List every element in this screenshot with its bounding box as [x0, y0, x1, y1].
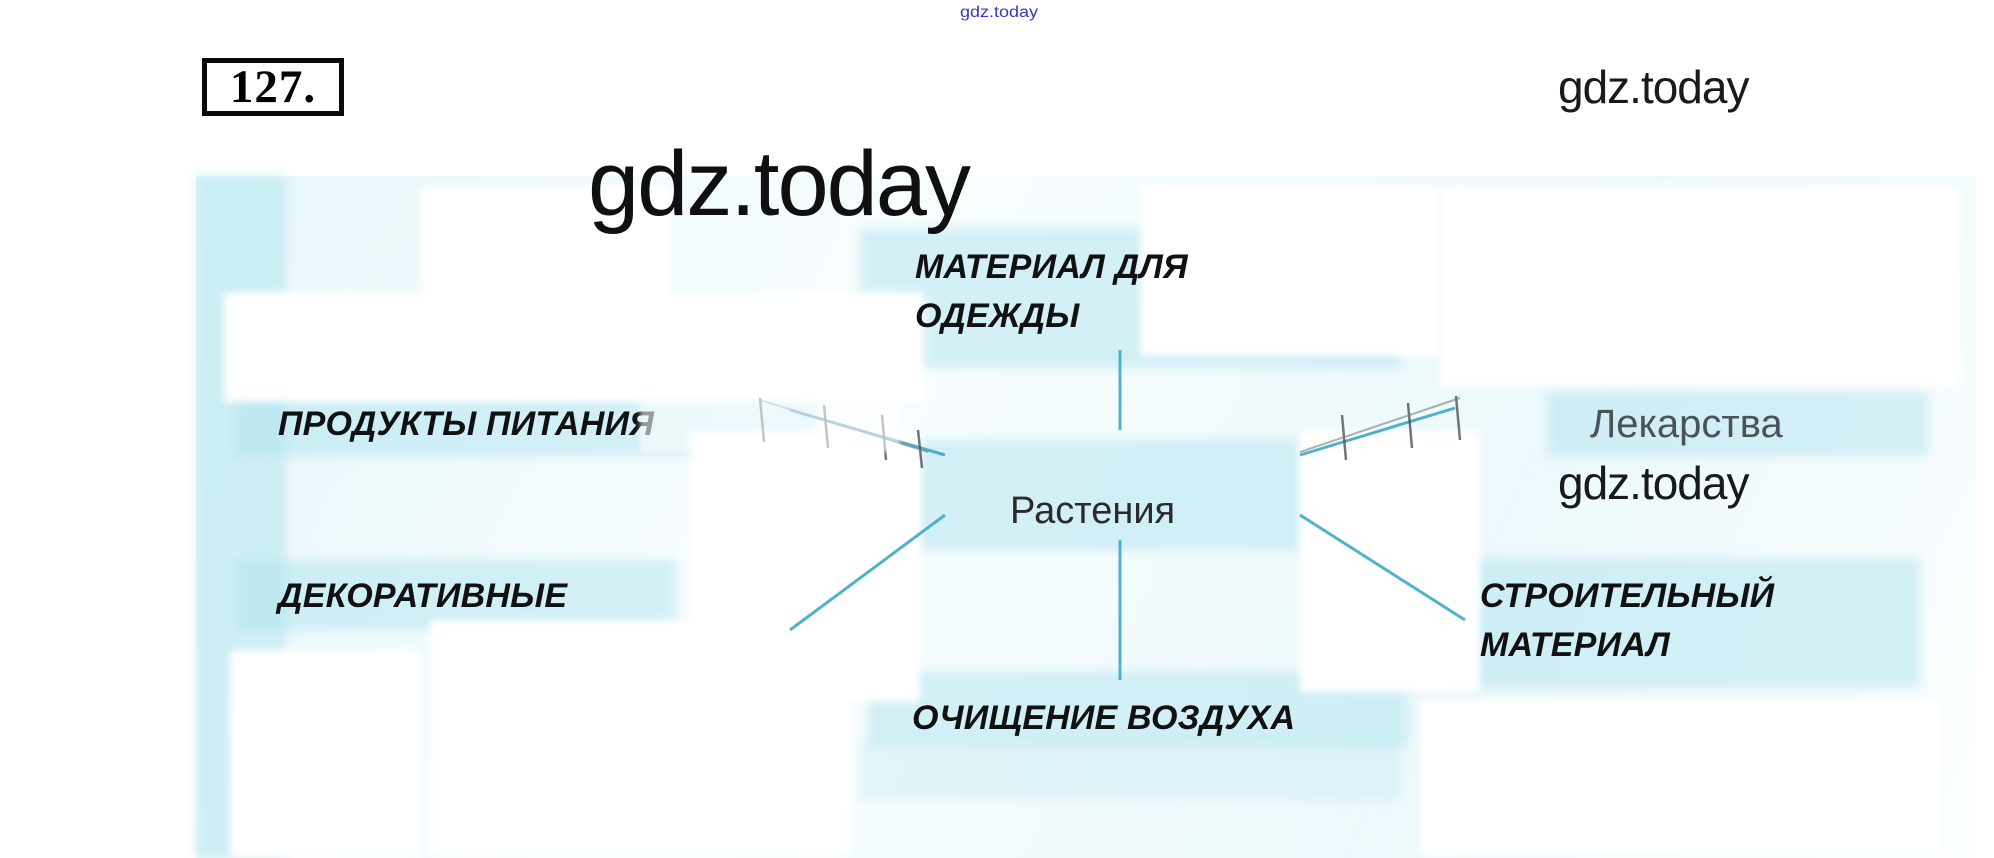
node-label-building: СТРОИТЕЛЬНЫЙ МАТЕРИАЛ: [1480, 572, 1774, 671]
node-label-building-line2: МАТЕРИАЛ: [1480, 621, 1774, 670]
task-number-box: 127.: [202, 58, 344, 116]
scan-white-patch: [1440, 186, 1960, 386]
scan-white-patch: [420, 186, 670, 386]
scan-white-patch: [230, 650, 420, 858]
scan-white-patch: [1300, 432, 1480, 692]
node-label-food: ПРОДУКТЫ ПИТАНИЯ: [278, 400, 654, 449]
node-label-air: ОЧИЩЕНИЕ ВОЗДУХА: [912, 694, 1295, 743]
node-label-medicine: Лекарства: [1590, 402, 1783, 447]
scan-fade-overlay: [640, 382, 900, 452]
node-label-decor: ДЕКОРАТИВНЫЕ: [278, 572, 567, 621]
watermark-top-right: gdz.today: [1558, 60, 1748, 114]
scan-tint-blotch: [860, 740, 1400, 800]
node-label-clothing-line2: ОДЕЖДЫ: [915, 292, 1188, 341]
node-label-clothing: МАТЕРИАЛ ДЛЯ ОДЕЖДЫ: [915, 243, 1188, 342]
task-number: 127.: [230, 64, 316, 111]
node-label-clothing-line1: МАТЕРИАЛ ДЛЯ: [915, 243, 1188, 292]
scan-white-patch: [1420, 700, 1940, 856]
node-label-center-plants: Растения: [1010, 490, 1175, 533]
page-root: 127.: [0, 0, 1994, 858]
node-label-building-line1: СТРОИТЕЛЬНЫЙ: [1480, 572, 1774, 621]
scan-white-patch: [430, 620, 850, 856]
watermark-top-small: gdz.today: [960, 4, 1038, 22]
